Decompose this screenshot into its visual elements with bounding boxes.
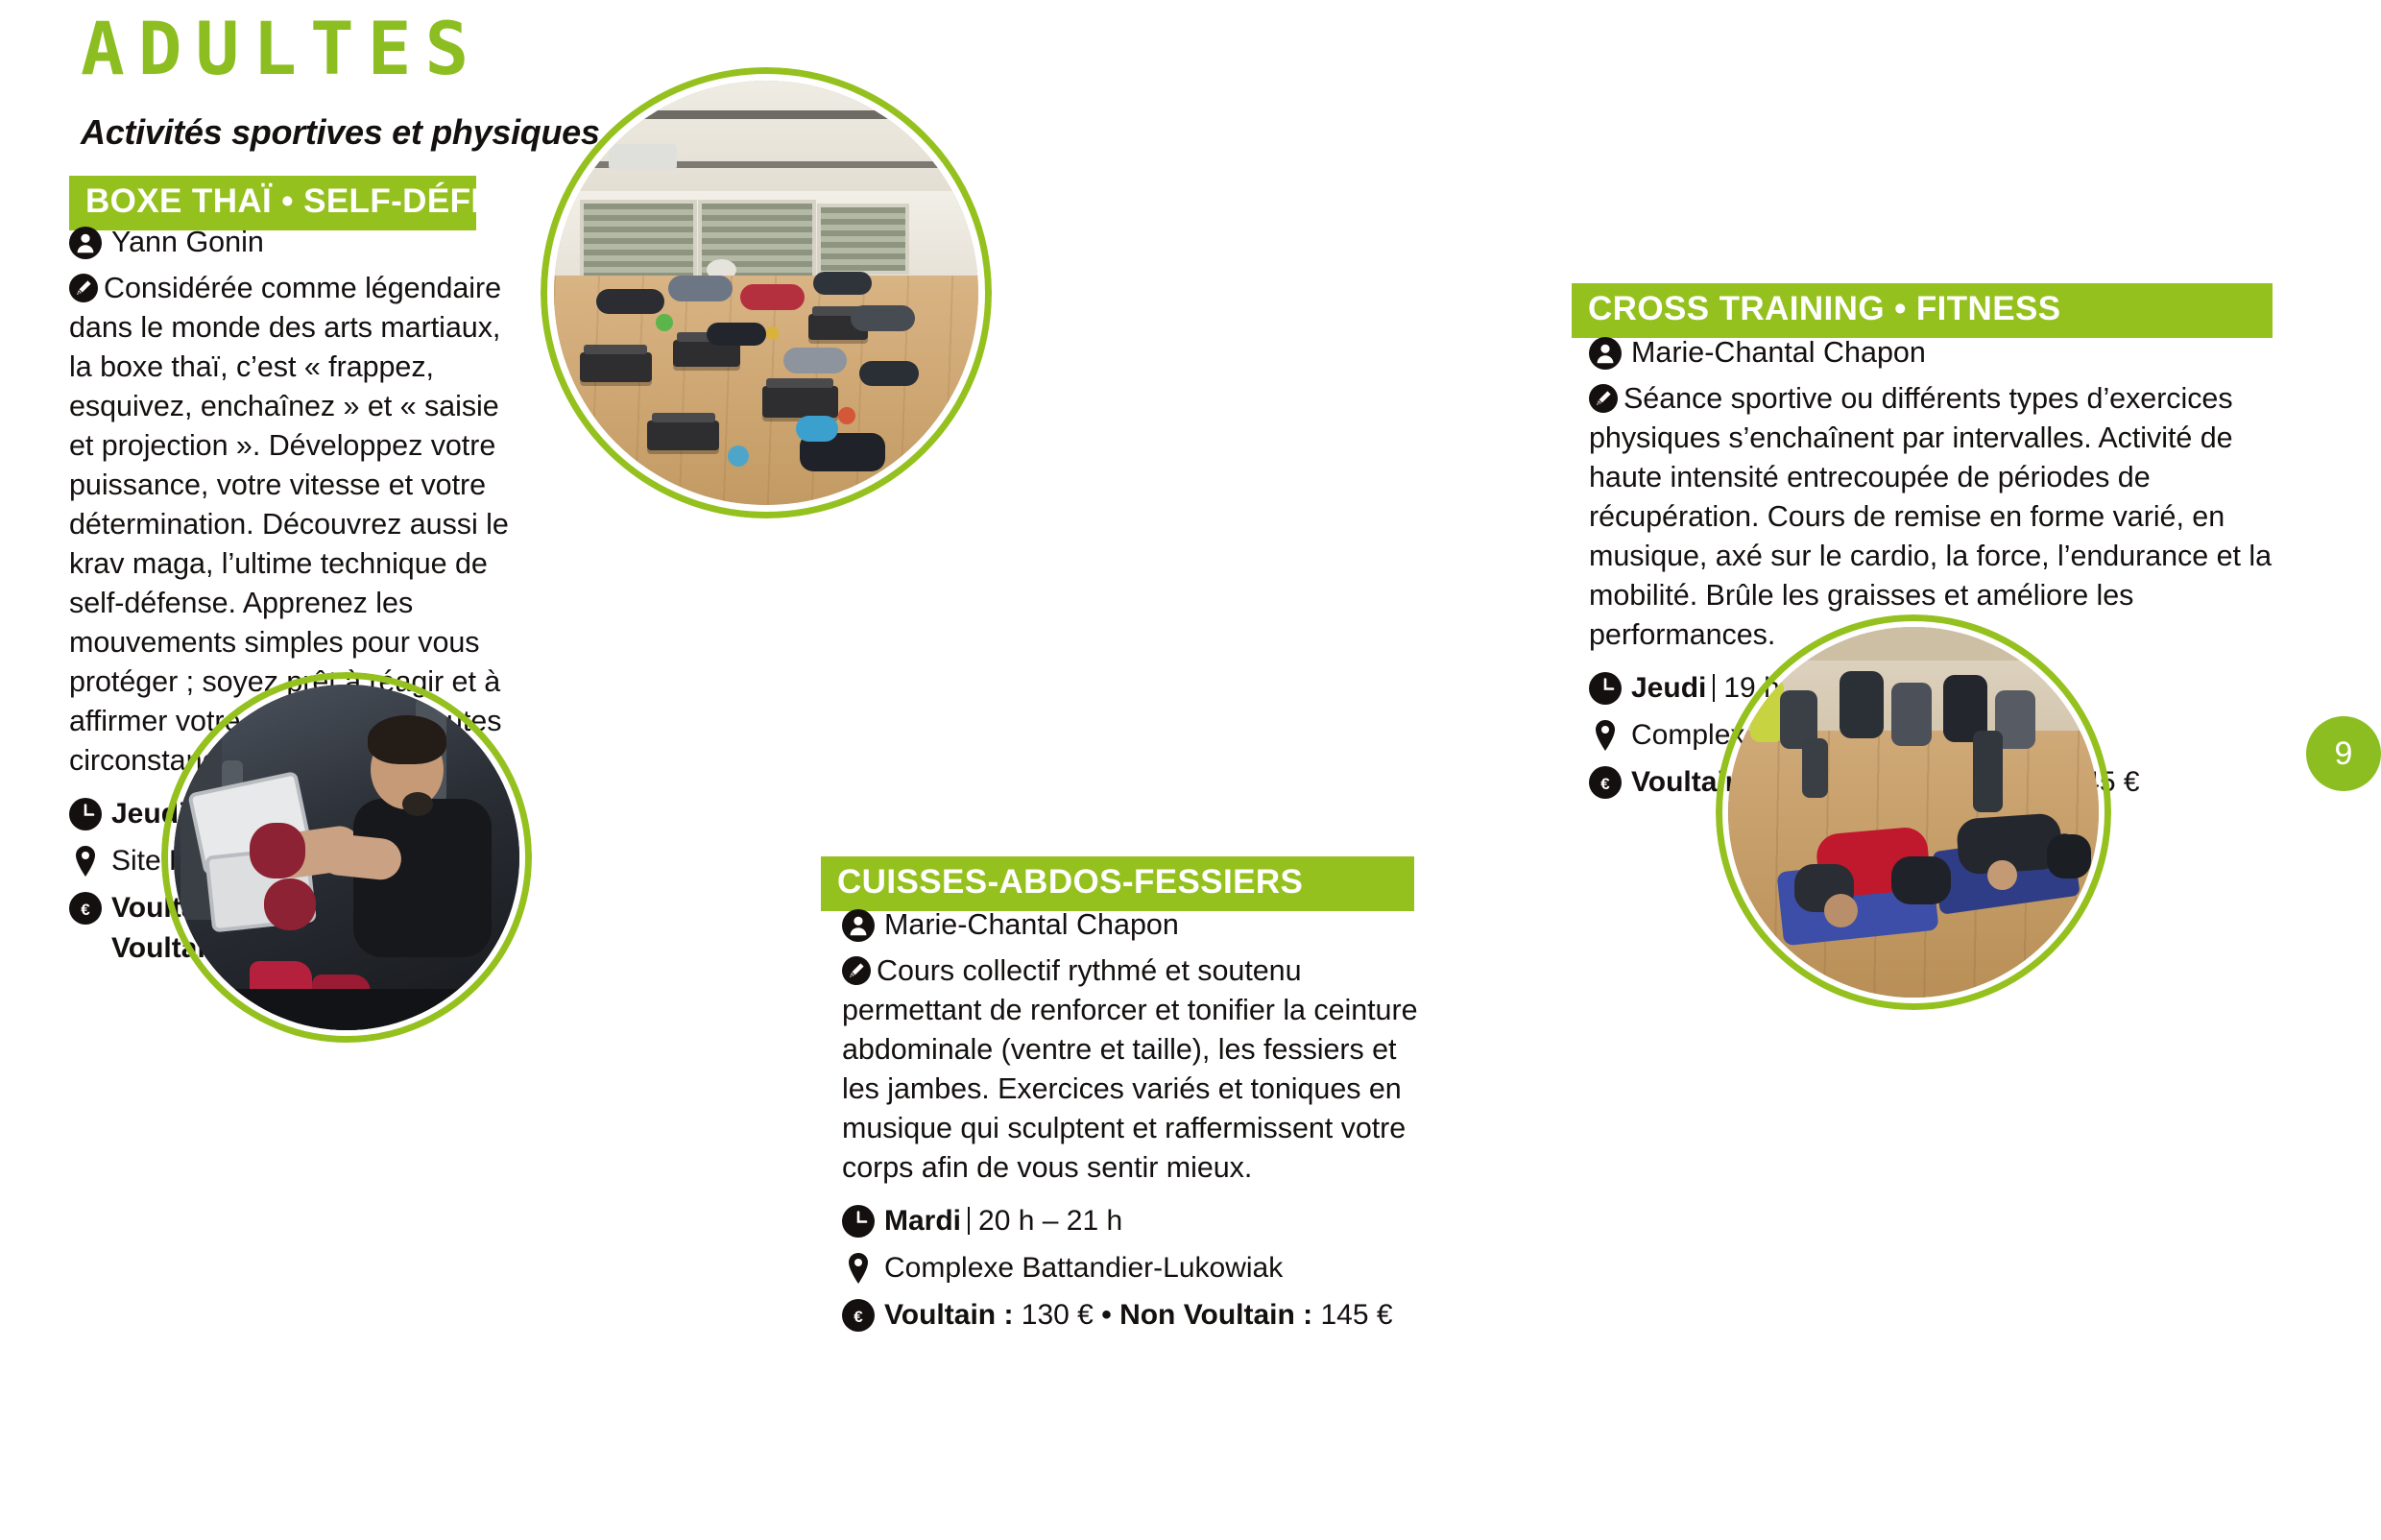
pencil-icon xyxy=(69,274,98,302)
map-pin-icon xyxy=(842,1252,875,1285)
svg-text:€: € xyxy=(854,1308,863,1326)
pencil-icon xyxy=(1589,384,1618,413)
price-nonresident-label: Non Voultain : xyxy=(1119,1299,1312,1331)
price-nonresident-value: 145 € xyxy=(1321,1299,1393,1331)
instructor-name: Marie-Chantal Chapon xyxy=(1631,333,1926,372)
schedule-line: Mardi20 h – 21 h xyxy=(842,1201,1437,1241)
divider xyxy=(968,1207,970,1235)
boxing-training-photo xyxy=(161,672,532,1043)
map-pin-icon xyxy=(69,845,102,878)
person-icon xyxy=(1589,337,1622,370)
clock-icon xyxy=(1589,672,1622,705)
page-subtitle: Activités sportives et physiques xyxy=(81,112,600,153)
page-number: 9 xyxy=(2335,735,2353,773)
map-pin-icon xyxy=(1589,719,1622,752)
description-text: Séance sportive ou différents types d’ex… xyxy=(1589,382,2272,651)
instructor-name: Marie-Chantal Chapon xyxy=(884,905,1179,944)
instructor-name: Yann Gonin xyxy=(111,223,264,261)
location-line: Complexe Battandier-Lukowiak xyxy=(842,1248,1437,1288)
person-icon xyxy=(842,909,875,942)
page-title: ADULTES xyxy=(81,6,753,92)
instructor-line: Marie-Chantal Chapon xyxy=(1589,333,2280,372)
svg-text:€: € xyxy=(81,901,90,919)
person-icon xyxy=(69,227,102,259)
price-separator: • xyxy=(1101,1299,1112,1331)
section-header-cuisses-abdos-fessiers: CUISSES-ABDOS-FESSIERS xyxy=(821,856,1414,911)
euro-icon: € xyxy=(1589,766,1622,799)
section-cuisses-abdos-fessiers: Marie-Chantal Chapon Cours collectif ryt… xyxy=(842,905,1437,1342)
masthead: ADULTES xyxy=(81,6,753,92)
instructor-line: Yann Gonin xyxy=(69,223,520,261)
price-text: Voultain : 130 € • Non Voultain : 145 € xyxy=(884,1295,1393,1335)
stretching-class-photo xyxy=(1716,614,2111,1010)
price-resident-value: 130 € xyxy=(1022,1299,1094,1331)
price-resident-label: Voultain : xyxy=(884,1299,1013,1331)
clock-icon xyxy=(69,798,102,830)
schedule-text: Mardi20 h – 21 h xyxy=(884,1201,1122,1241)
price-line: € Voultain : 130 € • Non Voultain : 145 … xyxy=(842,1295,1437,1335)
instructor-line: Marie-Chantal Chapon xyxy=(842,905,1437,944)
description-paragraph: Cours collectif rythmé et soutenu permet… xyxy=(842,951,1437,1188)
description-text: Cours collectif rythmé et soutenu permet… xyxy=(842,954,1418,1184)
pencil-icon xyxy=(842,956,871,985)
clock-icon xyxy=(842,1205,875,1238)
location-text: Complexe Battandier-Lukowiak xyxy=(884,1248,1283,1288)
section-header-cross-training-fitness: CROSS TRAINING • FITNESS xyxy=(1572,283,2273,338)
schedule-time: 20 h – 21 h xyxy=(978,1205,1122,1237)
schedule-day: Mardi xyxy=(884,1205,961,1237)
group-fitness-class-photo xyxy=(541,67,992,518)
euro-icon: € xyxy=(842,1299,875,1332)
divider xyxy=(1713,674,1715,702)
description-paragraph: Séance sportive ou différents types d’ex… xyxy=(1589,379,2280,655)
page-number-badge: 9 xyxy=(2306,716,2381,791)
brochure-page: ADULTES Activités sportives et physiques xyxy=(0,0,2381,1540)
svg-text:€: € xyxy=(1600,775,1610,793)
schedule-day: Jeudi xyxy=(1631,672,1706,704)
euro-icon: € xyxy=(69,892,102,925)
